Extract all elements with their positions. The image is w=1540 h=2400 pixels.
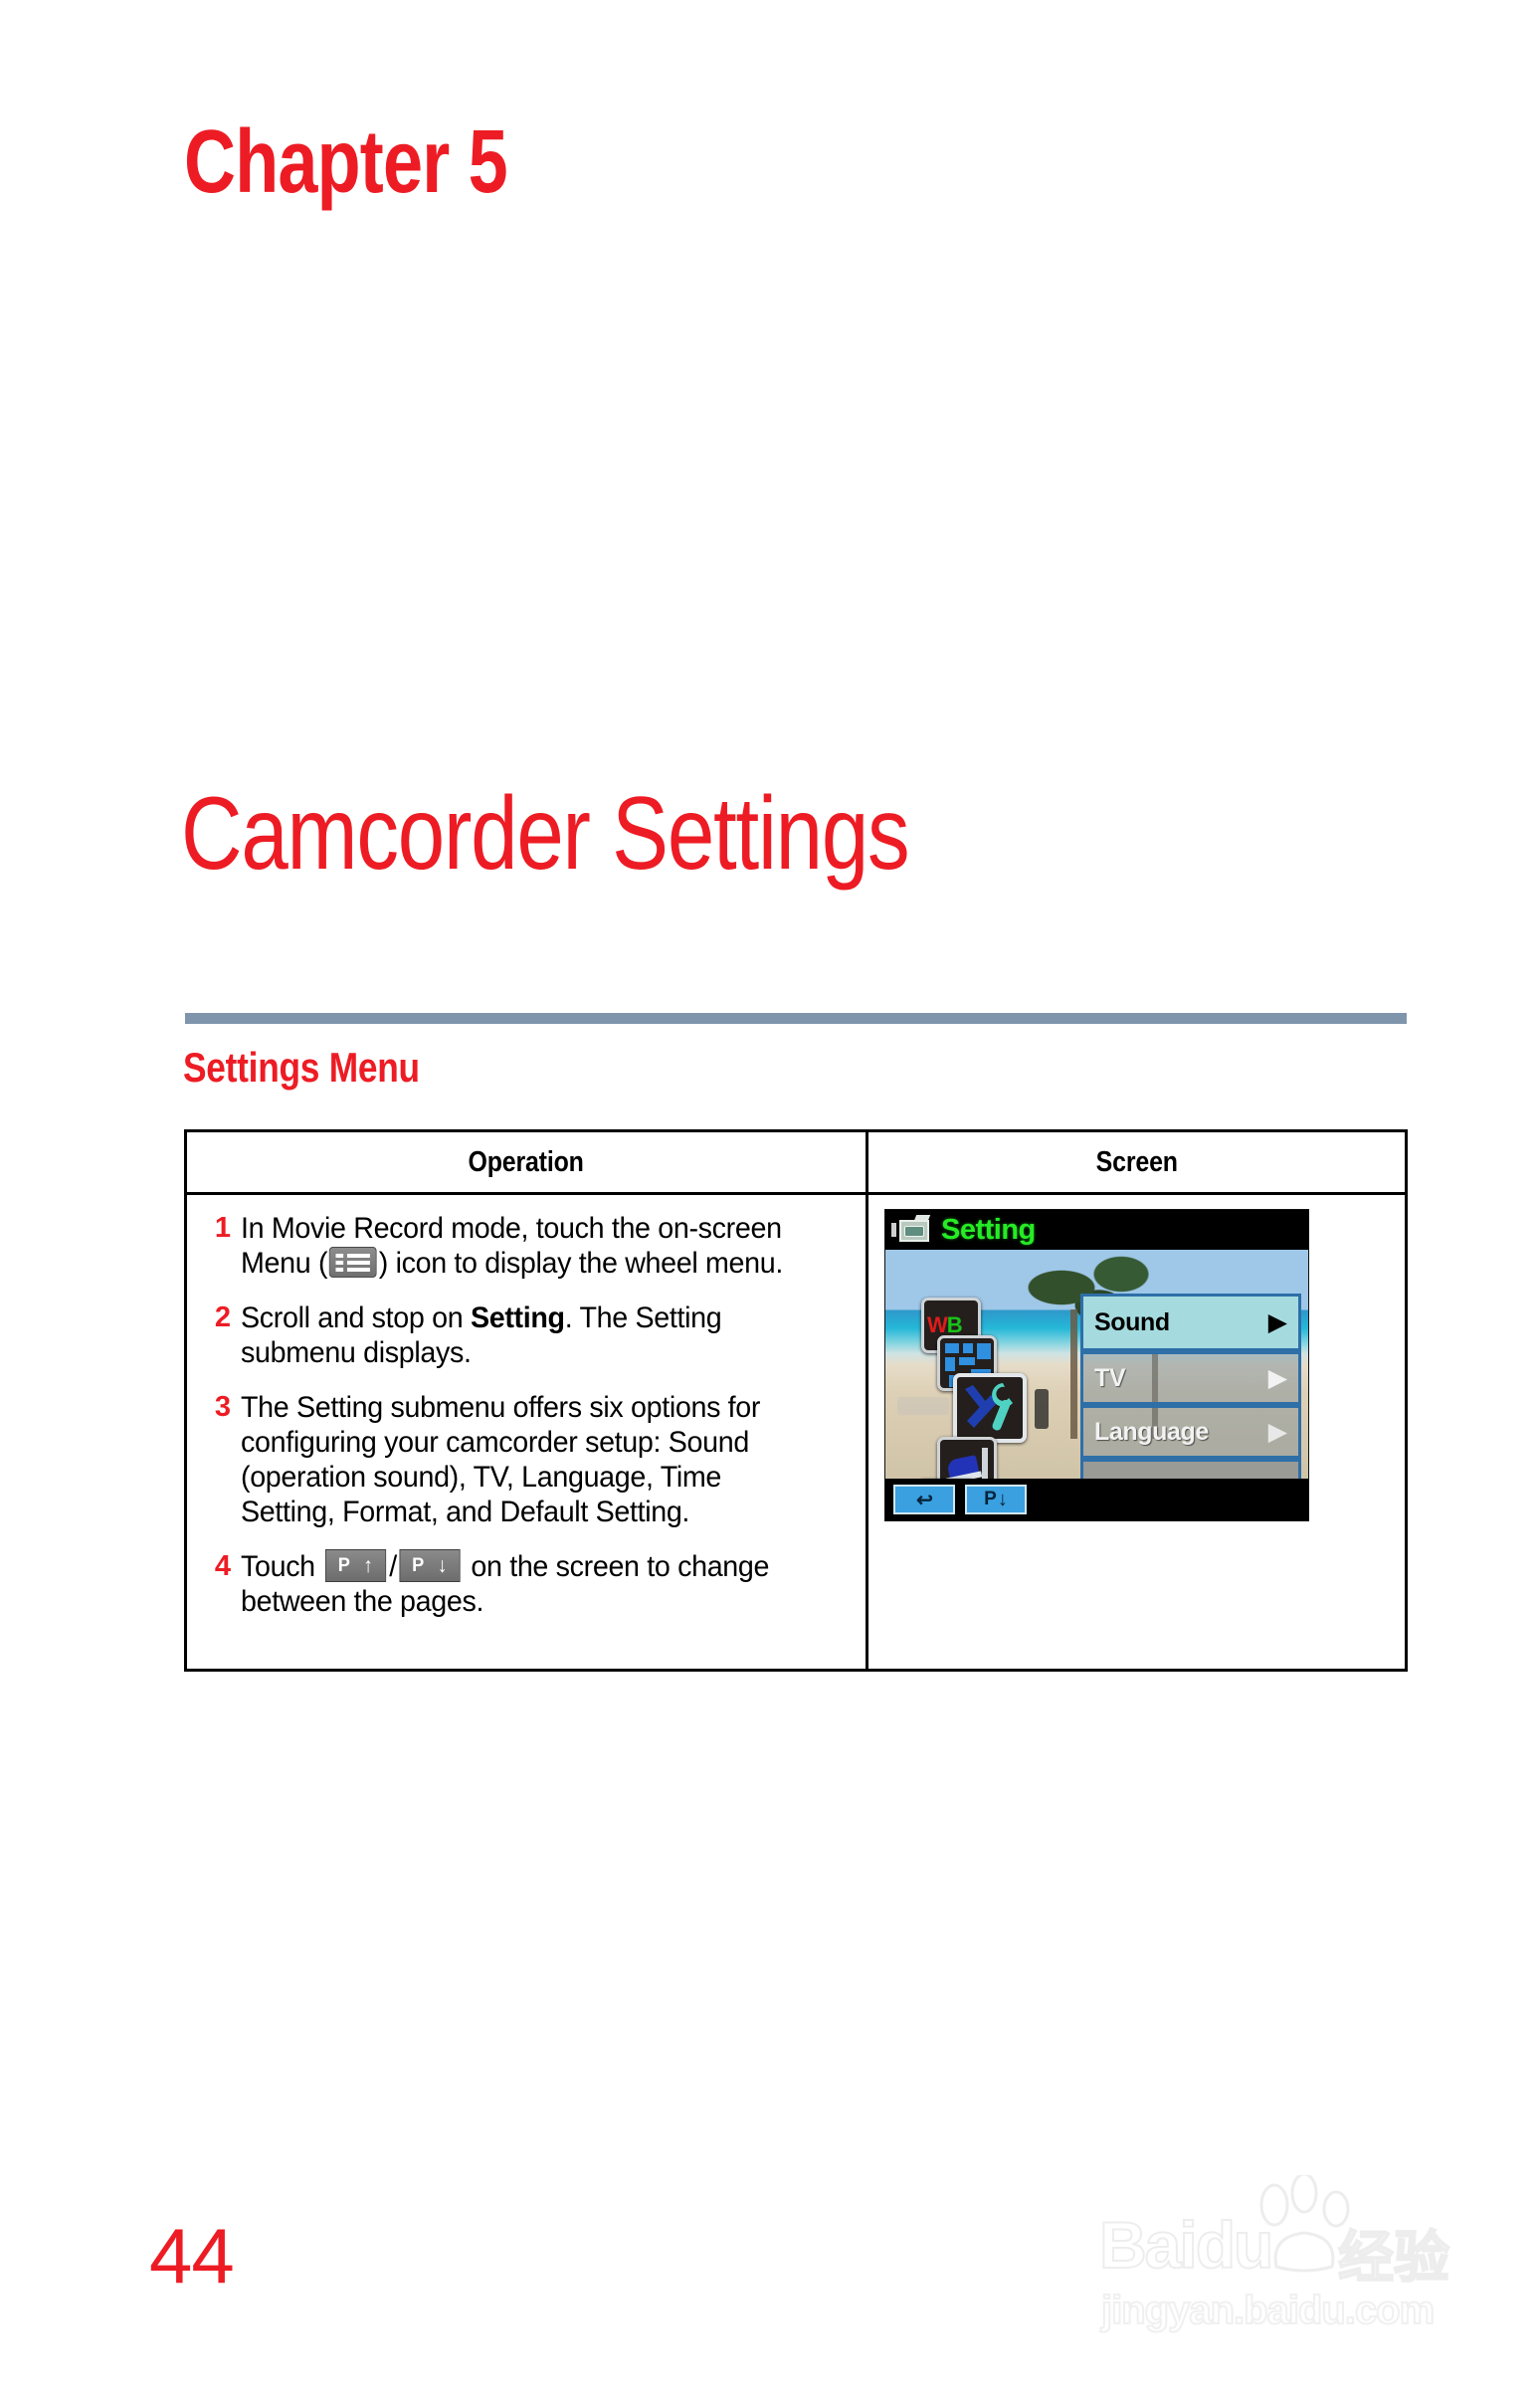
watermark-brand-cn: 经验 bbox=[1338, 2213, 1449, 2294]
menu-item-label: Sound bbox=[1094, 1308, 1170, 1337]
page-down-icon: P↓ bbox=[400, 1549, 461, 1582]
lcd-background-photo: WB ★ bbox=[885, 1250, 1308, 1481]
step-text: Scroll and stop on Setting. The Setting … bbox=[241, 1300, 821, 1370]
separator: / bbox=[389, 1550, 397, 1583]
camcorder-icon bbox=[891, 1215, 933, 1245]
page-title: Camcorder Settings bbox=[181, 782, 908, 886]
step-number: 4 bbox=[197, 1549, 241, 1619]
step-emphasis: Setting bbox=[471, 1301, 565, 1334]
step-text: The Setting submenu offers six options f… bbox=[241, 1390, 821, 1529]
return-arrow-icon: ↩ bbox=[916, 1488, 933, 1512]
step-text: In Movie Record mode, touch the on-scree… bbox=[241, 1211, 821, 1281]
watermark: Baidu 经验 jingyan.baidu.com bbox=[1099, 2179, 1477, 2358]
setting-wrench-icon[interactable] bbox=[953, 1373, 1027, 1443]
step-number: 2 bbox=[197, 1300, 241, 1370]
step-text: Touch P↑/P↓ on the screen to change betw… bbox=[241, 1549, 821, 1619]
list-item: 2 Scroll and stop on Setting. The Settin… bbox=[197, 1300, 848, 1370]
step-text-part-a: Scroll and stop on bbox=[241, 1301, 471, 1334]
table-header-screen-label: Screen bbox=[1095, 1132, 1177, 1192]
page-up-icon: P↑ bbox=[325, 1549, 386, 1582]
watermark-url: jingyan.baidu.com bbox=[1101, 2289, 1434, 2333]
menu-item-sound[interactable]: Sound ▶ bbox=[1080, 1294, 1301, 1351]
chevron-right-icon: ▶ bbox=[1268, 1366, 1287, 1391]
page-down-button[interactable]: P↓ bbox=[965, 1485, 1027, 1514]
wrench-screwdriver-glyph bbox=[957, 1377, 1023, 1439]
arrow-down-icon: ↓ bbox=[998, 1489, 1008, 1511]
step-number: 3 bbox=[197, 1390, 241, 1529]
chevron-right-icon: ▶ bbox=[1268, 1420, 1287, 1445]
step-text-after: ) icon to display the wheel menu. bbox=[379, 1247, 783, 1280]
step-list: 1 In Movie Record mode, touch the on-scr… bbox=[187, 1195, 866, 1629]
table-header-screen: Screen bbox=[868, 1132, 1405, 1192]
table-header-operation: Operation bbox=[187, 1132, 868, 1192]
lcd-title: Setting bbox=[941, 1210, 1036, 1250]
table-header-row: Operation Screen bbox=[187, 1132, 1405, 1195]
menu-list-icon bbox=[329, 1247, 377, 1278]
step-number: 1 bbox=[197, 1211, 241, 1281]
list-item: 3 The Setting submenu offers six options… bbox=[197, 1390, 848, 1529]
camcorder-lcd-screenshot: Setting WB bbox=[884, 1209, 1309, 1521]
menu-item-language[interactable]: Language ▶ bbox=[1080, 1405, 1301, 1459]
paw-logo-icon bbox=[1249, 2175, 1368, 2285]
table-header-operation-label: Operation bbox=[469, 1132, 584, 1192]
menu-item-label: Language bbox=[1094, 1418, 1209, 1447]
page-number: 44 bbox=[149, 2217, 234, 2295]
menu-item-tv[interactable]: TV ▶ bbox=[1080, 1351, 1301, 1405]
list-item: 1 In Movie Record mode, touch the on-scr… bbox=[197, 1211, 848, 1281]
page-down-label: P bbox=[984, 1489, 997, 1510]
chapter-label: Chapter 5 bbox=[184, 117, 507, 207]
manual-page: Chapter 5 Camcorder Settings Settings Me… bbox=[0, 0, 1540, 2400]
lcd-bottom-bar: ↩ P↓ bbox=[885, 1479, 1308, 1520]
lcd-title-bar: Setting bbox=[885, 1210, 1308, 1250]
watermark-brand: Baidu bbox=[1099, 2207, 1271, 2283]
chevron-right-icon: ▶ bbox=[1268, 1310, 1287, 1335]
section-heading: Settings Menu bbox=[183, 1047, 420, 1089]
palm-trunk-decor bbox=[1070, 1309, 1077, 1439]
menu-item-label: TV bbox=[1094, 1364, 1125, 1393]
section-divider bbox=[185, 1013, 1407, 1024]
step-text-part-a: Touch bbox=[241, 1550, 322, 1583]
back-return-button[interactable]: ↩ bbox=[893, 1485, 955, 1514]
list-item: 4 Touch P↑/P↓ on the screen to change be… bbox=[197, 1549, 848, 1619]
table-cell-operation: 1 In Movie Record mode, touch the on-scr… bbox=[187, 1195, 868, 1669]
